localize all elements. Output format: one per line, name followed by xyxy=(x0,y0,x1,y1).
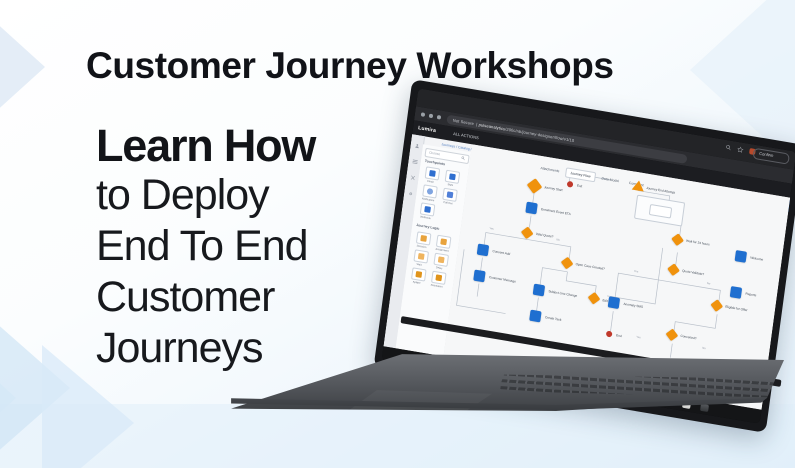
node-reports[interactable] xyxy=(730,286,742,299)
settings-icon[interactable] xyxy=(407,191,413,197)
sms-icon xyxy=(449,173,456,180)
node-wait-24-hours[interactable] xyxy=(673,234,683,245)
list-icon[interactable] xyxy=(412,159,418,165)
bell-icon xyxy=(427,188,434,195)
node-customer-message[interactable] xyxy=(473,270,485,283)
palette-item-resolution[interactable]: Resolution xyxy=(431,271,445,288)
node-end[interactable] xyxy=(606,331,613,338)
node-enrolment-event[interactable] xyxy=(525,202,537,215)
bookmark-icon[interactable] xyxy=(737,146,744,153)
node-quote-validate[interactable] xyxy=(668,264,678,275)
palette-group-title-0: Touchpoints xyxy=(425,159,446,166)
brand-logo: Lumira xyxy=(418,125,437,134)
search-icon[interactable] xyxy=(461,155,466,160)
laptop-trackpad xyxy=(332,387,492,413)
url-secure-label: Not Secure xyxy=(453,117,475,126)
node-edit[interactable] xyxy=(589,293,599,304)
node-consent-add[interactable] xyxy=(477,244,489,257)
node-label-end: End xyxy=(616,333,622,338)
hourglass-icon xyxy=(438,256,445,263)
flag-icon xyxy=(435,274,442,281)
palette-item-splitter[interactable]: Splitter xyxy=(411,267,425,284)
palette-item-webhook[interactable]: Webhook xyxy=(419,202,433,219)
forward-icon[interactable] xyxy=(429,114,434,119)
node-create-task[interactable] xyxy=(529,310,541,323)
palette-search-placeholder: Choose xyxy=(429,151,441,157)
node-subject-line-change[interactable] xyxy=(533,284,545,297)
back-icon[interactable] xyxy=(421,112,426,117)
page-title: Customer Journey Workshops xyxy=(86,45,614,87)
palette-item-decision[interactable]: Decision xyxy=(415,231,429,248)
webhook-icon xyxy=(424,206,431,213)
decor-triangle-top-left xyxy=(0,0,45,162)
palette-item-assignment[interactable]: Assignment xyxy=(435,235,449,252)
poster-canvas: Customer Journey Workshops Learn How to … xyxy=(0,0,795,468)
palette-item-wait[interactable]: Wait xyxy=(413,249,427,266)
edge-label-4: Yes xyxy=(636,336,641,340)
node-anomaly-sms[interactable] xyxy=(608,296,620,309)
search-icon[interactable] xyxy=(725,144,732,151)
edge-label-1: No xyxy=(556,238,560,242)
phone-icon xyxy=(447,191,454,198)
profile-label: Confirm xyxy=(759,151,774,158)
palette-item-sms[interactable]: SMS xyxy=(444,170,458,187)
node-open-case-created[interactable] xyxy=(562,258,572,269)
node-exit[interactable] xyxy=(567,181,574,188)
laptop-base xyxy=(196,343,795,443)
palette-group-title-1: Journey Logic xyxy=(416,223,440,231)
clock-icon xyxy=(418,253,425,260)
reload-icon[interactable] xyxy=(437,115,442,120)
edge-label-2: Yes xyxy=(634,270,639,274)
palette-item-notification[interactable]: Notification xyxy=(422,184,436,201)
split-icon xyxy=(415,271,422,278)
branch-icon xyxy=(420,235,427,242)
cut-icon[interactable] xyxy=(410,175,416,181)
assign-icon xyxy=(440,238,447,245)
email-icon xyxy=(429,170,436,177)
palette-item-delay[interactable]: Delay xyxy=(433,253,447,270)
edge-label-3: No xyxy=(707,282,711,286)
org-name: ALL ACTIONS xyxy=(453,131,479,140)
edge-label-0: Yes xyxy=(489,227,494,231)
user-icon[interactable] xyxy=(414,143,420,149)
palette-item-callout[interactable]: Call Out xyxy=(442,188,456,205)
node-label-exit: Exit xyxy=(577,183,583,188)
palette-item-email[interactable]: Email xyxy=(424,166,438,183)
node-valid-quote[interactable] xyxy=(522,228,532,239)
laptop-mockup: Confirm Not Secure | pulseanalytics/200c… xyxy=(196,100,795,440)
node-journey-start[interactable] xyxy=(528,180,540,193)
node-eligible-offer[interactable] xyxy=(712,300,722,311)
url-domain: pulseanalytics xyxy=(478,121,505,130)
node-journey-end-attempt[interactable] xyxy=(632,180,645,192)
profile-pill[interactable]: Confirm xyxy=(753,147,790,164)
node-converted[interactable] xyxy=(667,330,677,341)
node-welcome[interactable] xyxy=(735,250,747,263)
